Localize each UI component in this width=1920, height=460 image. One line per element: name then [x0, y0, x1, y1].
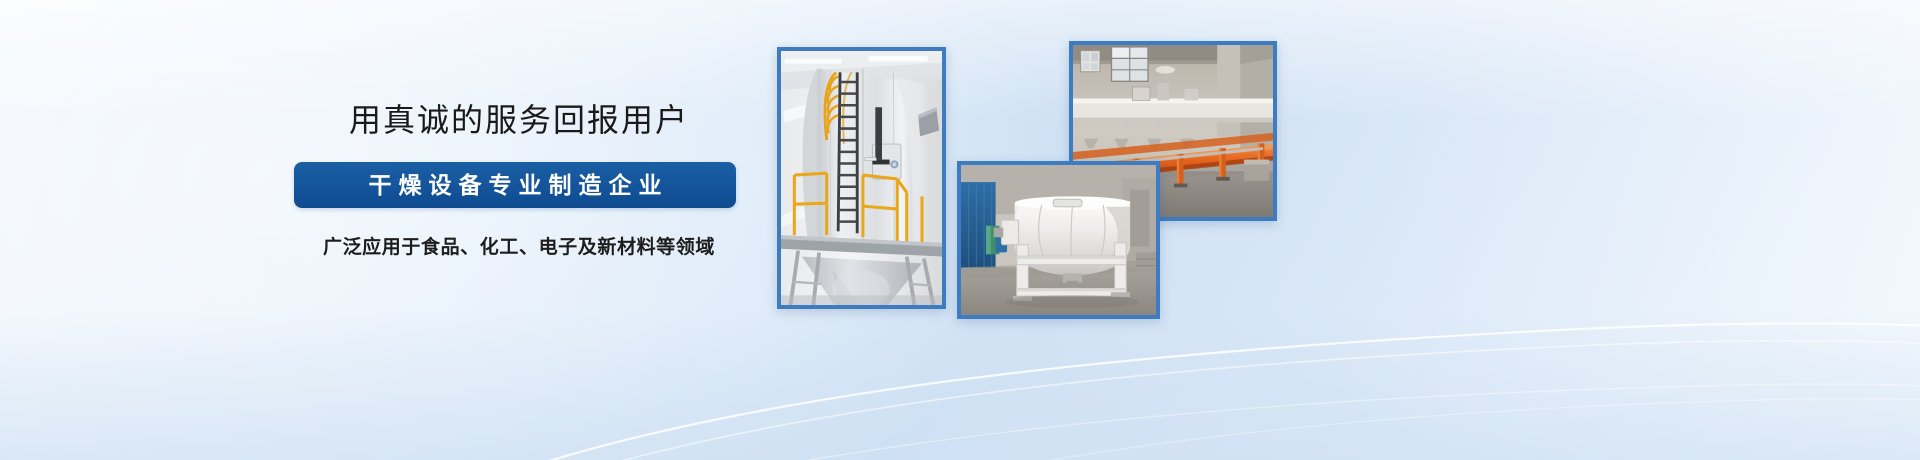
tagline-pill: 干燥设备专业制造企业	[294, 162, 736, 208]
photo-ribbon-mixer-image	[961, 165, 1156, 315]
photo-ribbon-mixer	[957, 161, 1160, 319]
hero-banner: 用真诚的服务回报用户 干燥设备专业制造企业 广泛应用于食品、化工、电子及新材料等…	[0, 0, 1920, 460]
page-title: 用真诚的服务回报用户	[294, 104, 744, 136]
photo-spray-dryer-image	[781, 51, 942, 305]
photo-spray-dryer-tower	[777, 47, 946, 309]
hero-copy: 用真诚的服务回报用户 干燥设备专业制造企业 广泛应用于食品、化工、电子及新材料等…	[294, 104, 744, 259]
hero-subtitle: 广泛应用于食品、化工、电子及新材料等领域	[294, 232, 744, 259]
background-top-fade	[0, 0, 1920, 120]
background-bottom-fade	[0, 310, 1920, 460]
